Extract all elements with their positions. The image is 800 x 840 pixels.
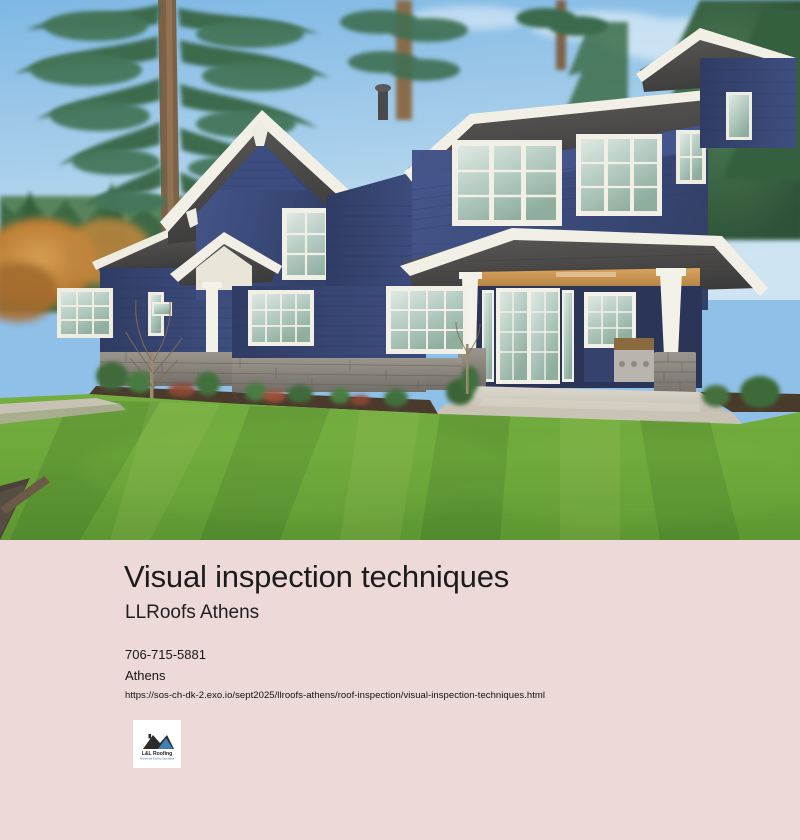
page-url[interactable]: https://sos-ch-dk-2.exo.io/sept2025/llro…: [125, 690, 545, 701]
page-root: Visual inspection techniques LLRoofs Ath…: [0, 0, 800, 840]
article-info-panel: Visual inspection techniques LLRoofs Ath…: [0, 540, 800, 840]
svg-text:Residential Roofing Specialist: Residential Roofing Specialists: [140, 757, 175, 760]
company-name: LLRoofs Athens: [125, 602, 259, 624]
svg-text:L&L Roofing: L&L Roofing: [142, 751, 172, 757]
phone-number[interactable]: 706-715-5881: [125, 647, 206, 662]
page-title: Visual inspection techniques: [124, 560, 509, 594]
house-exterior-photo: [0, 0, 800, 540]
city-name: Athens: [125, 668, 165, 683]
llroofs-logo: L&L Roofing Residential Roofing Speciali…: [133, 720, 181, 768]
